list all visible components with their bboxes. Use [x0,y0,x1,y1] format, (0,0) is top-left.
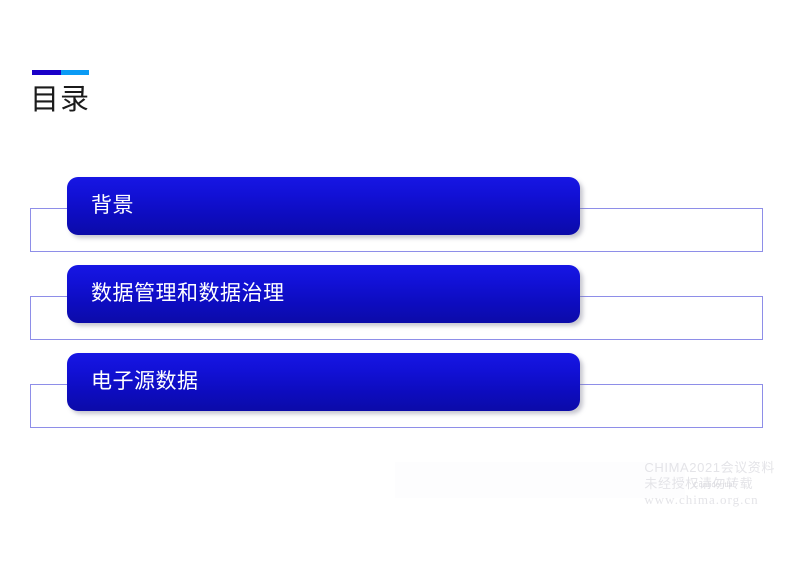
agenda-list: 背景 数据管理和数据治理 电子源数据 [0,0,793,561]
agenda-item-data-management-governance[interactable]: 数据管理和数据治理 [67,265,580,323]
slide-canvas: 目录 背景 数据管理和数据治理 电子源数据 CHIMA2021会议资料 未经授权… [0,0,793,561]
agenda-item-electronic-source-data[interactable]: 电子源数据 [67,353,580,411]
agenda-item-background[interactable]: 背景 [67,177,580,235]
agenda-item-label: 电子源数据 [67,369,199,395]
agenda-item-label: 数据管理和数据治理 [67,281,285,307]
agenda-item-label: 背景 [67,193,134,219]
